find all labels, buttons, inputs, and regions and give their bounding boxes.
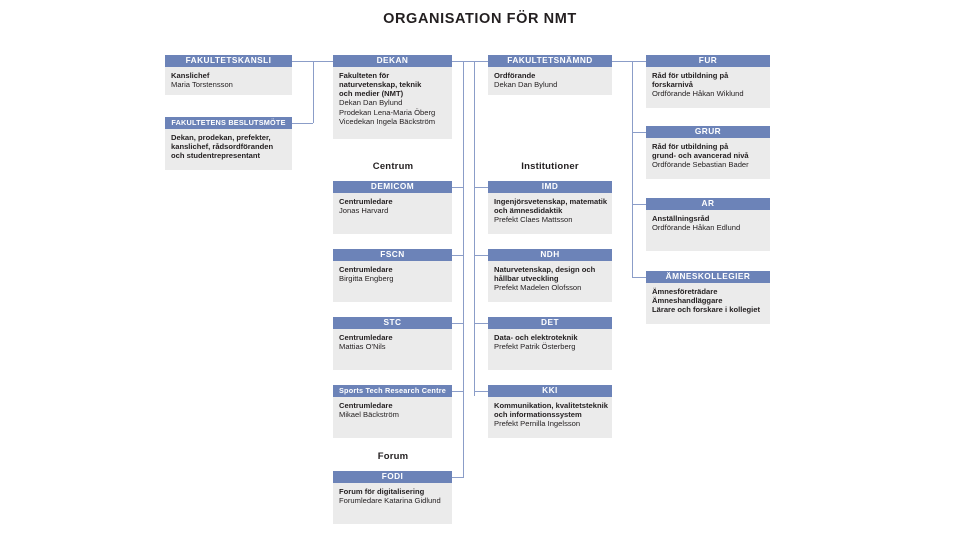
org-chart-canvas: ORGANISATION FÖR NMT Centrum Institution… xyxy=(0,0,960,540)
box-body: Kommunikation, kvalitetsteknik och infor… xyxy=(488,397,612,438)
group-caption-forum: Forum xyxy=(333,451,453,462)
box-header: DEKAN xyxy=(333,55,452,67)
box-line: Ordförande Sebastian Bader xyxy=(652,160,764,169)
box-line: Data- och elektroteknik xyxy=(494,333,606,342)
box-line: Prefekt Patrik Österberg xyxy=(494,342,606,351)
box-body: Kanslichef Maria Torstensson xyxy=(165,67,292,95)
connector-fscn xyxy=(452,255,463,256)
connector-kki xyxy=(474,391,488,392)
box-line: Mikael Bäckström xyxy=(339,410,446,419)
box-imd[interactable]: IMD Ingenjörsvetenskap, matematik och äm… xyxy=(488,181,612,234)
box-line: Centrumledare xyxy=(339,197,446,206)
box-header: Sports Tech Research Centre xyxy=(333,385,452,397)
box-fakultetens-beslutsmote[interactable]: FAKULTETENS BESLUTSMÖTE Dekan, prodekan,… xyxy=(165,117,292,170)
box-line: Råd för utbildning på xyxy=(652,71,764,80)
connector-ar xyxy=(632,204,646,205)
box-body: Anställningsråd Ordförande Håkan Edlund xyxy=(646,210,770,251)
box-line: Prefekt Claes Mattsson xyxy=(494,215,606,224)
box-line: Ämneshandläggare xyxy=(652,296,764,305)
box-line: och medier (NMT) xyxy=(339,89,446,98)
box-body: Data- och elektroteknik Prefekt Patrik Ö… xyxy=(488,329,612,370)
box-line: hållbar utveckling xyxy=(494,274,606,283)
connector-imd xyxy=(474,187,488,188)
box-body: Ordförande Dekan Dan Bylund xyxy=(488,67,612,95)
box-demicom[interactable]: DEMICOM Centrumledare Jonas Harvard xyxy=(333,181,452,234)
connector-sports-tech xyxy=(452,391,463,392)
connector-grur xyxy=(632,132,646,133)
box-header: FAKULTETENS BESLUTSMÖTE xyxy=(165,117,292,129)
box-line: Prefekt Pernilla Ingelsson xyxy=(494,419,606,428)
box-body: Centrumledare Mikael Bäckström xyxy=(333,397,452,438)
box-line: Jonas Harvard xyxy=(339,206,446,215)
box-det[interactable]: DET Data- och elektroteknik Prefekt Patr… xyxy=(488,317,612,370)
box-body: Ingenjörsvetenskap, matematik och ämnesd… xyxy=(488,193,612,234)
connector-dekan-to-fakultetsnamnd xyxy=(452,61,488,62)
box-body: Råd för utbildning på grund- och avancer… xyxy=(646,138,770,179)
box-header: NDH xyxy=(488,249,612,261)
box-line: Forum för digitalisering xyxy=(339,487,446,496)
box-dekan[interactable]: DEKAN Fakulteten för naturvetenskap, tek… xyxy=(333,55,452,139)
connector-fakultetsnamnd-right-stub xyxy=(612,61,632,62)
connector-centrum-trunk xyxy=(463,61,464,478)
box-fur[interactable]: FUR Råd för utbildning på forskarnivå Or… xyxy=(646,55,770,108)
box-body: Råd för utbildning på forskarnivå Ordför… xyxy=(646,67,770,108)
box-header: STC xyxy=(333,317,452,329)
box-fodi[interactable]: FODI Forum för digitalisering Forumledar… xyxy=(333,471,452,524)
box-header: FODI xyxy=(333,471,452,483)
box-line: Fakulteten för xyxy=(339,71,446,80)
box-line: Råd för utbildning på xyxy=(652,142,764,151)
box-header: FSCN xyxy=(333,249,452,261)
box-body: Centrumledare Jonas Harvard xyxy=(333,193,452,234)
box-line: Ordförande xyxy=(494,71,606,80)
page-title: ORGANISATION FÖR NMT xyxy=(0,11,960,27)
box-line: kanslichef, rådsordföranden xyxy=(171,142,286,151)
box-line: Anställningsråd xyxy=(652,214,764,223)
box-body: Naturvetenskap, design och hållbar utvec… xyxy=(488,261,612,302)
box-line: Forumledare Katarina Gidlund xyxy=(339,496,446,505)
box-line: grund- och avancerad nivå xyxy=(652,151,764,160)
box-kki[interactable]: KKI Kommunikation, kvalitetsteknik och i… xyxy=(488,385,612,438)
connector-amneskollegier xyxy=(632,277,646,278)
box-line: Dekan Dan Bylund xyxy=(339,98,446,107)
group-caption-centrum: Centrum xyxy=(333,161,453,172)
box-line: och ämnesdidaktik xyxy=(494,206,606,215)
box-fakultetsnamnd[interactable]: FAKULTETSNÄMND Ordförande Dekan Dan Bylu… xyxy=(488,55,612,95)
box-line: Maria Torstensson xyxy=(171,80,286,89)
box-line: Kanslichef xyxy=(171,71,286,80)
box-header: FAKULTETSNÄMND xyxy=(488,55,612,67)
box-stc[interactable]: STC Centrumledare Mattias O'Nils xyxy=(333,317,452,370)
box-grur[interactable]: GRUR Råd för utbildning på grund- och av… xyxy=(646,126,770,179)
box-line: Centrumledare xyxy=(339,333,446,342)
box-line: Prodekan Lena-Maria Öberg xyxy=(339,108,446,117)
box-line: naturvetenskap, teknik xyxy=(339,80,446,89)
box-line: forskarnivå xyxy=(652,80,764,89)
box-header: FAKULTETSKANSLI xyxy=(165,55,292,67)
box-body: Centrumledare Mattias O'Nils xyxy=(333,329,452,370)
box-header: AR xyxy=(646,198,770,210)
box-fakultetskansli[interactable]: FAKULTETSKANSLI Kanslichef Maria Torsten… xyxy=(165,55,292,95)
box-body: Dekan, prodekan, prefekter, kanslichef, … xyxy=(165,129,292,170)
connector-demicom xyxy=(452,187,463,188)
box-line: Dekan Dan Bylund xyxy=(494,80,606,89)
box-fscn[interactable]: FSCN Centrumledare Birgitta Engberg xyxy=(333,249,452,302)
box-ndh[interactable]: NDH Naturvetenskap, design och hållbar u… xyxy=(488,249,612,302)
connector-right-trunk xyxy=(632,61,633,277)
box-header: IMD xyxy=(488,181,612,193)
connector-left-trunk xyxy=(313,61,314,123)
box-line: och informationssystem xyxy=(494,410,606,419)
box-line: och studentrepresentant xyxy=(171,151,286,160)
box-header: DEMICOM xyxy=(333,181,452,193)
box-line: Ämnesföreträdare xyxy=(652,287,764,296)
box-body: Centrumledare Birgitta Engberg xyxy=(333,261,452,302)
box-line: Birgitta Engberg xyxy=(339,274,446,283)
connector-institutioner-trunk xyxy=(474,61,475,396)
connector-det xyxy=(474,323,488,324)
group-caption-institutioner: Institutioner xyxy=(488,161,612,172)
box-body: Fakulteten för naturvetenskap, teknik oc… xyxy=(333,67,452,139)
connector-dekan-left-stub xyxy=(313,61,333,62)
connector-ndh xyxy=(474,255,488,256)
box-line: Centrumledare xyxy=(339,401,446,410)
box-line: Ordförande Håkan Edlund xyxy=(652,223,764,232)
box-amneskollegier[interactable]: ÄMNESKOLLEGIER Ämnesföreträdare Ämneshan… xyxy=(646,271,770,324)
connector-fodi xyxy=(452,477,463,478)
box-header: KKI xyxy=(488,385,612,397)
box-line: Mattias O'Nils xyxy=(339,342,446,351)
box-header: GRUR xyxy=(646,126,770,138)
box-line: Vicedekan Ingela Bäckström xyxy=(339,117,446,126)
box-line: Ordförande Håkan Wiklund xyxy=(652,89,764,98)
box-body: Forum för digitalisering Forumledare Kat… xyxy=(333,483,452,524)
connector-fakultetskansli xyxy=(292,61,313,62)
box-line: Kommunikation, kvalitetsteknik xyxy=(494,401,606,410)
box-line: Dekan, prodekan, prefekter, xyxy=(171,133,286,142)
box-body: Ämnesföreträdare Ämneshandläggare Lärare… xyxy=(646,283,770,324)
connector-fakultetens-beslutsmote xyxy=(292,123,313,124)
box-sports-tech-research-centre[interactable]: Sports Tech Research Centre Centrumledar… xyxy=(333,385,452,438)
connector-stc xyxy=(452,323,463,324)
box-line: Centrumledare xyxy=(339,265,446,274)
box-line: Lärare och forskare i kollegiet xyxy=(652,305,764,314)
box-ar[interactable]: AR Anställningsråd Ordförande Håkan Edlu… xyxy=(646,198,770,251)
box-header: ÄMNESKOLLEGIER xyxy=(646,271,770,283)
box-line: Ingenjörsvetenskap, matematik xyxy=(494,197,606,206)
connector-fur xyxy=(632,61,646,62)
box-header: DET xyxy=(488,317,612,329)
box-line: Naturvetenskap, design och xyxy=(494,265,606,274)
box-header: FUR xyxy=(646,55,770,67)
box-line: Prefekt Madelen Olofsson xyxy=(494,283,606,292)
